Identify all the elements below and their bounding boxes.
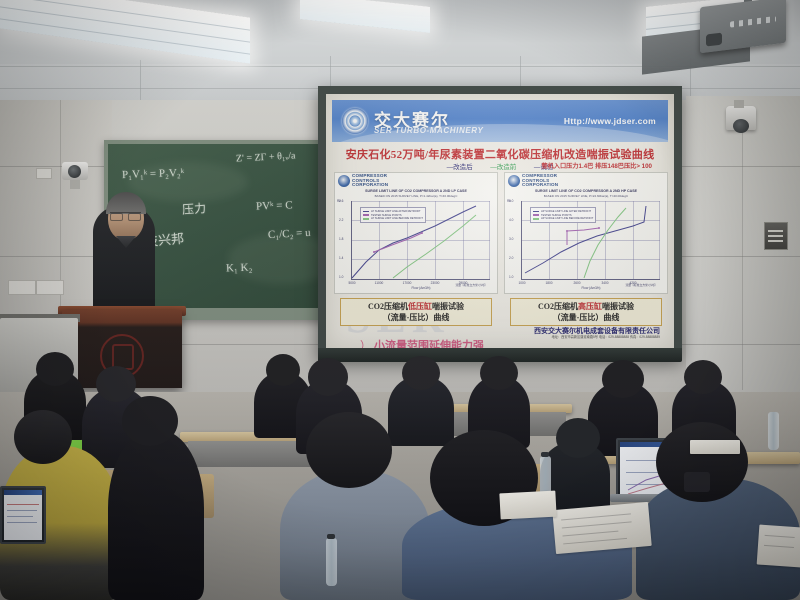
chart-title-hp: SURGE LIMIT LINE OF CO2 COMPRESSOR A 2ND… bbox=[505, 189, 667, 193]
presentation-slide: 交大赛尔 SER TURBO-MACHINERY Http://www.jdse… bbox=[326, 94, 674, 350]
ccc-vendor-label: COMPRESSORCONTROLSCORPORATION bbox=[522, 174, 558, 188]
chart-note-hp: 流量【标准立方米/小时】 bbox=[625, 283, 657, 287]
wall-panel bbox=[764, 222, 788, 250]
chart-plot-hp: 1.0 2.0 3.0 4.0 5.0 1000 1800 2600 3400 … bbox=[521, 201, 660, 280]
open-document bbox=[757, 525, 800, 568]
ytick: 2.2 bbox=[339, 218, 343, 222]
xtick: 2600 bbox=[573, 281, 580, 285]
chalk-formula: PVᵏ = C bbox=[256, 199, 293, 212]
bottle-cap bbox=[541, 452, 549, 457]
chart-xlabel-hp: Flow (Am3/h) bbox=[582, 286, 601, 290]
audience-head bbox=[306, 412, 392, 488]
xtick: 11000 bbox=[375, 281, 384, 285]
xtick: 1800 bbox=[545, 281, 552, 285]
audience-head bbox=[480, 356, 518, 390]
ccc-logo-icon bbox=[508, 175, 520, 187]
chart-legend-lp: LP SURGE LIMIT LINE AFTER RETROFIT TESTE… bbox=[360, 207, 426, 223]
bottle-cap bbox=[327, 534, 335, 539]
caption-box-lp: CO2压缩机低压缸喘振试验 （流量-压比）曲线 bbox=[340, 298, 492, 326]
ytick: 1.0 bbox=[509, 275, 513, 279]
chart-panel-hp: COMPRESSORCONTROLSCORPORATION SURGE LIMI… bbox=[504, 172, 668, 294]
chalk-formula: Z' = ZΓ + θ₁ᵥ/a bbox=[236, 150, 296, 164]
camera-lens-icon bbox=[68, 165, 81, 178]
audience-head bbox=[96, 366, 136, 402]
chalk-text: 压力 bbox=[181, 199, 206, 218]
water-bottle[interactable] bbox=[768, 412, 779, 450]
ytick: 3.0 bbox=[509, 237, 513, 241]
projector-lens-icon bbox=[706, 33, 722, 47]
audience-head bbox=[402, 356, 440, 390]
glasses-icon bbox=[684, 472, 710, 492]
water-bottle[interactable] bbox=[326, 538, 337, 586]
camera-mount bbox=[734, 100, 744, 108]
audience-head bbox=[36, 352, 74, 386]
open-document bbox=[552, 502, 651, 554]
chart-xlabel-lp: Flow (Am3/h) bbox=[412, 286, 431, 290]
chart-subtitle-hp: BASED ON 2015 SURVEY LINE, P=22.60bar(a)… bbox=[505, 194, 667, 198]
xtick: 17000 bbox=[403, 281, 412, 285]
app-titlebar bbox=[4, 490, 42, 495]
caption-line-1: CO2压缩机低压缸喘振试验 bbox=[368, 301, 464, 312]
caption-line-2: （流量-压比）曲线 bbox=[383, 312, 450, 323]
legend-item: HP SURGE LIMIT LINE BEFORE RETROFIT bbox=[541, 217, 593, 220]
audience-head bbox=[14, 410, 72, 464]
audience-head bbox=[308, 358, 348, 396]
slide-header: 交大赛尔 SER TURBO-MACHINERY Http://www.jdse… bbox=[332, 100, 668, 142]
slide-title: 安庆石化52万吨/年尿素装置二氧化碳压缩机改造喘振试验曲线 bbox=[326, 146, 674, 162]
chart-note-lp: 流量【标准立方米/小时】 bbox=[455, 283, 487, 287]
audience-head bbox=[266, 354, 300, 386]
chart-panel-lp: COMPRESSORCONTROLSCORPORATION SURGE LIMI… bbox=[334, 172, 498, 294]
xtick: 1000 bbox=[518, 281, 525, 285]
power-outlet bbox=[36, 280, 64, 295]
chalk-formula: C₁/C₂ = u bbox=[268, 227, 311, 241]
wall-bracket bbox=[36, 168, 52, 179]
caption-line-2: （流量-压比）曲线 bbox=[553, 312, 620, 323]
brand-name-en: SER TURBO-MACHINERY bbox=[374, 126, 483, 135]
legend-item: LP SURGE LIMIT LINE BEFORE RETROFIT bbox=[371, 217, 423, 220]
impeller-logo-icon bbox=[342, 108, 368, 134]
laptop-display bbox=[4, 490, 42, 540]
paper-stack bbox=[499, 491, 556, 520]
ccc-vendor-label: COMPRESSORCONTROLSCORPORATION bbox=[352, 174, 388, 188]
lecture-hall-photo: P₁V₁ᵏ = P₂V₂ᵏ Z' = ZΓ + θ₁ᵥ/a 压力 PVᵏ = C… bbox=[0, 0, 800, 600]
company-url: Http://www.jdser.com bbox=[564, 116, 656, 126]
ytick: 2.0 bbox=[509, 256, 513, 260]
legend-item: LP SURGE LIMIT LINE AFTER RETROFIT bbox=[371, 210, 421, 213]
legend-item: HP SURGE LIMIT LINE AFTER RETROFIT bbox=[541, 210, 591, 213]
glasses-icon bbox=[110, 212, 141, 219]
ytick: 1.8 bbox=[339, 237, 343, 241]
chart-legend-hp: HP SURGE LIMIT LINE AFTER RETROFIT TESTE… bbox=[530, 207, 596, 223]
chalk-formula: K₁ K₂ bbox=[226, 262, 253, 275]
audience-head bbox=[602, 360, 644, 398]
ytick: 1.0 bbox=[339, 275, 343, 279]
ytick: 4.0 bbox=[509, 218, 513, 222]
dome-camera-right bbox=[726, 106, 756, 130]
projection-screen: 交大赛尔 SER TURBO-MACHINERY Http://www.jdse… bbox=[326, 94, 674, 350]
paper-stack bbox=[690, 440, 740, 454]
caption-line-1: CO2压缩机高压缸喘振试验 bbox=[538, 301, 634, 312]
ytick: 5.0 bbox=[509, 199, 513, 203]
chart-subtitle-lp: BASED ON 2015 SURVEY LINE, P=1.42bar(a),… bbox=[335, 194, 497, 198]
legend-before: —改造前 bbox=[490, 164, 516, 171]
camera-lens-icon bbox=[733, 119, 749, 133]
chalk-formula: P₁V₁ᵏ = P₂V₂ᵏ bbox=[122, 167, 184, 181]
audience-head bbox=[122, 396, 178, 446]
laptop-screen[interactable] bbox=[0, 486, 46, 544]
power-outlet bbox=[8, 280, 36, 295]
projector-vents bbox=[730, 16, 776, 28]
slide-condition-note: 整机入口压力1.4巴 排压148巴压比> 100 bbox=[541, 161, 652, 170]
slide-address: 地址：西安市高新区唐延南路5号 电话：029-88888888 传真：029-8… bbox=[552, 335, 660, 339]
ytick: 1.4 bbox=[339, 256, 343, 260]
xtick: 5000 bbox=[348, 281, 355, 285]
audience-head bbox=[556, 418, 600, 458]
chart-title-lp: SURGE LIMIT LINE OF CO2 COMPRESSOR A 2ND… bbox=[335, 189, 497, 193]
caption-box-hp: CO2压缩机高压缸喘振试验 （流量-压比）曲线 bbox=[510, 298, 662, 326]
ytick: 2.6 bbox=[339, 199, 343, 203]
xtick: 23000 bbox=[431, 281, 440, 285]
wall-camera-left bbox=[62, 162, 88, 180]
chart-plot-lp: 1.0 1.4 1.8 2.2 2.6 5000 11000 17000 230… bbox=[351, 201, 490, 280]
legend-after: —改造后 bbox=[447, 164, 473, 171]
wall-seam bbox=[742, 100, 743, 390]
ccc-logo-icon bbox=[338, 175, 350, 187]
audience-person bbox=[108, 430, 204, 600]
camera-mount bbox=[70, 180, 80, 189]
xtick: 3400 bbox=[601, 281, 608, 285]
audience-head bbox=[684, 360, 722, 394]
